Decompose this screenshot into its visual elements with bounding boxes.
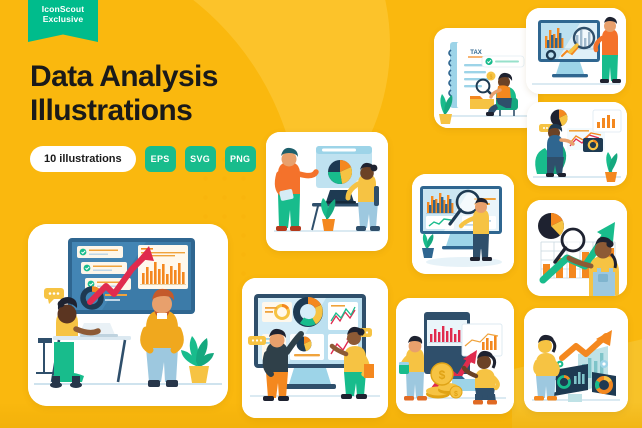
badge-line-2: Exclusive	[43, 15, 84, 25]
illustration-meeting-pie	[266, 132, 388, 251]
illustration-woman-charts	[527, 102, 627, 186]
illustration-card-finance-coins[interactable]: $ $	[396, 298, 514, 414]
illustration-finance-coins: $ $	[396, 298, 514, 414]
illustration-dashboard-arrow	[524, 308, 628, 412]
illustration-count-pill: 10 illustrations	[30, 146, 136, 172]
svg-text:$: $	[454, 391, 458, 398]
format-badge-svg[interactable]: SVG	[185, 146, 216, 172]
illustration-magnify-growth	[527, 200, 627, 296]
title-line-1: Data Analysis	[30, 60, 218, 93]
illustration-dashboard-duo	[242, 278, 388, 418]
illustration-card-dashboard-duo[interactable]	[242, 278, 388, 418]
tax-label: TAX	[470, 50, 482, 56]
format-badge-eps[interactable]: EPS	[145, 146, 176, 172]
svg-text:$: $	[439, 368, 446, 382]
illustration-monitor-magnify-top	[526, 8, 626, 94]
illustration-card-tax-document[interactable]: TAX $	[434, 28, 538, 128]
page-title: Data Analysis Illustrations	[30, 60, 330, 127]
illustration-tax-document: TAX $	[434, 28, 538, 128]
format-badge-png[interactable]: PNG	[225, 146, 256, 172]
illustration-monitor-search	[412, 174, 514, 274]
illustration-card-presentation-board[interactable]	[28, 224, 228, 406]
meta-row: 10 illustrations EPS SVG PNG	[30, 146, 256, 172]
illustration-card-magnify-growth[interactable]	[527, 200, 627, 296]
illustration-card-dashboard-arrow[interactable]	[524, 308, 628, 412]
illustration-card-woman-charts[interactable]	[527, 102, 627, 186]
svg-text:$: $	[490, 75, 493, 81]
illustration-presentation-board	[28, 224, 228, 406]
illustration-card-monitor-search[interactable]	[412, 174, 514, 274]
title-line-2: Illustrations	[30, 94, 192, 127]
illustration-card-meeting-pie[interactable]	[266, 132, 388, 251]
illustration-card-monitor-magnify-top[interactable]	[526, 8, 626, 94]
